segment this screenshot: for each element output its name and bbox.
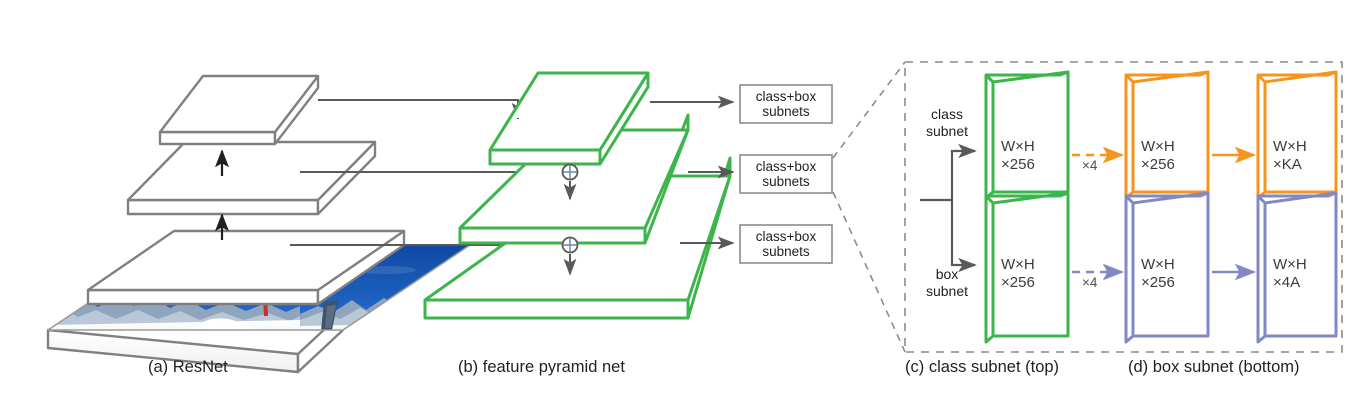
class-subnet-label-line2: subnet <box>908 123 986 140</box>
class-repeat-count-label: ×4 <box>1082 158 1097 173</box>
subnet-input-split <box>920 151 975 265</box>
panel-b-fpn <box>425 73 730 318</box>
caption-a-resnet: (a) ResNet <box>148 358 228 377</box>
zoom-callout-lines <box>833 62 905 352</box>
dims-line1: W×H <box>1141 138 1175 156</box>
class-box-subnets-label-mid: class+box subnets <box>740 159 832 189</box>
class-subnet-input-dims: W×H ×256 <box>1001 138 1035 173</box>
class-subnet-output-sheet <box>1258 72 1336 198</box>
box-subnet-label-line1: box <box>908 266 986 283</box>
dims-line1: W×H <box>1001 138 1035 156</box>
dims-line2: ×KA <box>1273 156 1307 174</box>
box-subnet-hidden-dims: W×H ×256 <box>1141 256 1175 291</box>
subnet-label-line2: subnets <box>740 244 832 259</box>
dims-line2: ×4A <box>1273 274 1307 292</box>
subnet-label-line1: class+box <box>740 229 832 244</box>
box-subnet-input-dims: W×H ×256 <box>1001 256 1035 291</box>
box-subnet-input-label: box subnet <box>908 266 986 299</box>
resnet-level-c5 <box>160 76 318 144</box>
caption-d-box-subnet: (d) box subnet (bottom) <box>1128 358 1300 377</box>
class-box-subnets-label-top: class+box subnets <box>740 89 832 119</box>
figure-canvas <box>0 0 1348 400</box>
dims-line2: ×256 <box>1141 156 1175 174</box>
retinanet-architecture-figure: class+box subnets class+box subnets clas… <box>0 0 1348 400</box>
resnet-level-c4 <box>128 142 375 214</box>
dims-line2: ×256 <box>1001 274 1035 292</box>
class-subnet-label-line1: class <box>908 106 986 123</box>
box-subnet-output-dims: W×H ×4A <box>1273 256 1307 291</box>
caption-c-class-subnet: (c) class subnet (top) <box>905 358 1059 377</box>
dims-line2: ×256 <box>1001 156 1035 174</box>
dims-line1: W×H <box>1141 256 1175 274</box>
subnet-label-line1: class+box <box>740 89 832 104</box>
dims-line1: W×H <box>1001 256 1035 274</box>
class-subnet-input-label: class subnet <box>908 106 986 139</box>
class-subnet-hidden-sheet <box>1126 72 1208 198</box>
class-box-subnets-label-bot: class+box subnets <box>740 229 832 259</box>
subnet-label-line2: subnets <box>740 174 832 189</box>
subnet-label-line2: subnets <box>740 104 832 119</box>
dims-line1: W×H <box>1273 138 1307 156</box>
class-subnet-output-dims: W×H ×KA <box>1273 138 1307 173</box>
box-repeat-count-label: ×4 <box>1082 275 1097 290</box>
subnet-label-line1: class+box <box>740 159 832 174</box>
panel-a-resnet <box>48 76 470 372</box>
dims-line1: W×H <box>1273 256 1307 274</box>
class-subnet-hidden-dims: W×H ×256 <box>1141 138 1175 173</box>
box-subnet-label-line2: subnet <box>908 283 986 300</box>
class-subnet-input-sheet <box>986 72 1068 198</box>
dims-line2: ×256 <box>1141 274 1175 292</box>
caption-b-feature-pyramid-net: (b) feature pyramid net <box>458 358 625 377</box>
